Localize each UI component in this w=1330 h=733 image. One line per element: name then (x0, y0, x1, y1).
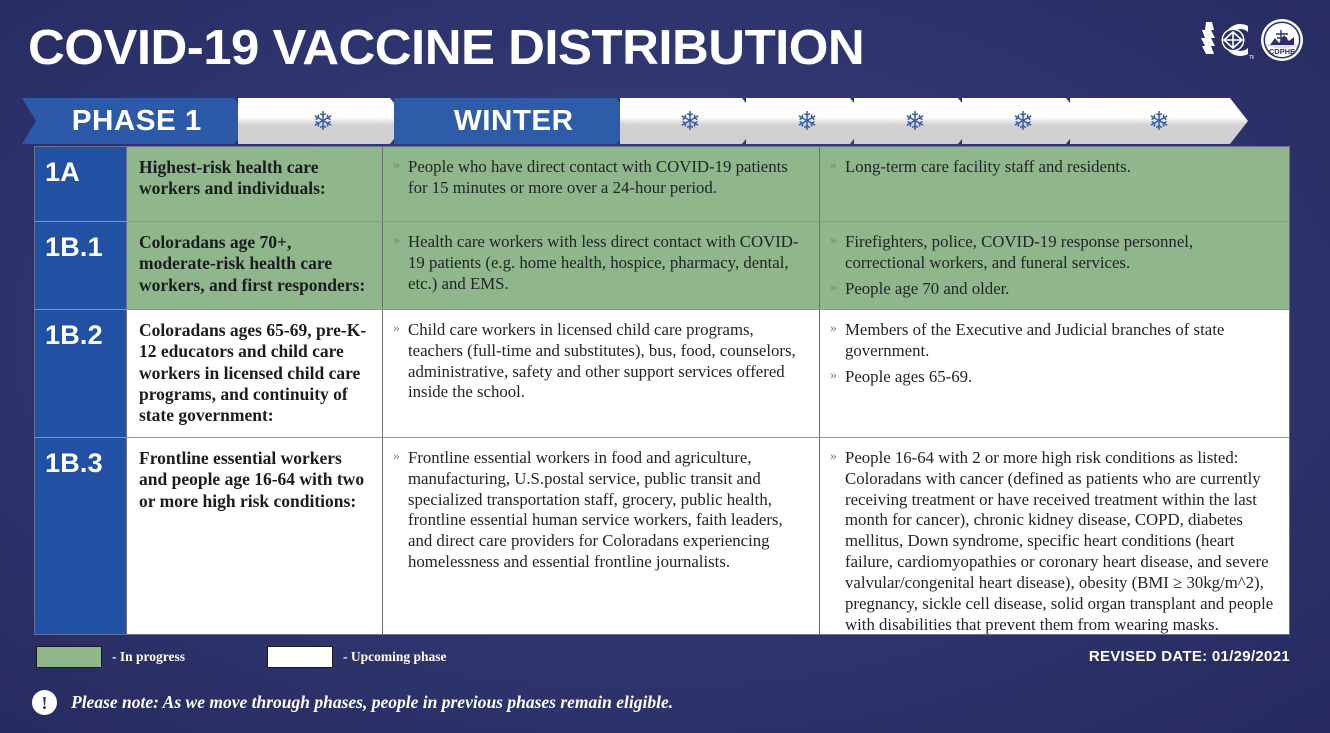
phase-middle-bullets-1b3: »Frontline essential workers in food and… (383, 438, 820, 634)
phase-right-bullets-1a: »Long-term care facility staff and resid… (820, 147, 1289, 221)
snowflake-icon: ❄ (679, 108, 701, 134)
snowflake-icon: ❄ (796, 108, 818, 134)
cdphe-seal-logo: CDPHE (1260, 18, 1304, 67)
bullet-icon: » (830, 232, 837, 249)
phase-right-bullets-1b3: »People 16-64 with 2 or more high risk c… (820, 438, 1289, 634)
bullet-icon: » (830, 279, 837, 296)
bullet-icon: » (393, 448, 400, 465)
banner-label-winter: WINTER (454, 105, 574, 138)
bullet-icon: » (830, 448, 837, 465)
legend-label-in-progress: - In progress (112, 649, 185, 665)
banner-segment-phase-1[interactable]: PHASE 1 (22, 98, 252, 144)
phase-code-1b2: 1B.2 (35, 310, 127, 437)
legend-label-upcoming: - Upcoming phase (343, 649, 447, 665)
list-item: »Firefighters, police, COVID-19 response… (830, 232, 1275, 274)
list-item: »Frontline essential workers in food and… (393, 448, 807, 573)
banner-segment-snow-6: ❄ (1070, 98, 1248, 144)
table-row: 1B.1 Coloradans age 70+, moderate-risk h… (35, 222, 1289, 310)
banner-segment-snow-1: ❄ (238, 98, 408, 144)
list-item: »People ages 65-69. (830, 367, 1275, 388)
phase-code-1b1: 1B.1 (35, 222, 127, 309)
banner-segment-snow-4: ❄ (854, 98, 976, 144)
snowflake-icon: ❄ (1148, 108, 1170, 134)
page-title: COVID-19 VACCINE DISTRIBUTION (28, 24, 864, 73)
legend-swatch-upcoming (267, 646, 333, 668)
logo-group: TM CDPHE (1196, 18, 1304, 67)
phase-right-bullets-1b1: »Firefighters, police, COVID-19 response… (820, 222, 1289, 309)
phase-table: 1A Highest-risk health care workers and … (34, 146, 1290, 635)
exclamation-icon: ! (32, 690, 57, 715)
phase-middle-bullets-1b2: »Child care workers in licensed child ca… (383, 310, 820, 437)
banner-segment-snow-2: ❄ (620, 98, 760, 144)
banner-label-phase-1: PHASE 1 (72, 105, 202, 138)
phase-middle-bullets-1a: »People who have direct contact with COV… (383, 147, 820, 221)
phase-description-1a: Highest-risk health care workers and ind… (127, 147, 383, 221)
table-row: 1B.2 Coloradans ages 65-69, pre-K-12 edu… (35, 310, 1289, 438)
phase-timeline-banner: PHASE 1 ❄ WINTER ❄ ❄ ❄ ❄ ❄ (22, 98, 1308, 144)
svg-text:TM: TM (1249, 55, 1254, 61)
phase-middle-bullets-1b1: »Health care workers with less direct co… (383, 222, 820, 309)
list-item: »People 16-64 with 2 or more high risk c… (830, 448, 1275, 635)
bullet-icon: » (393, 320, 400, 337)
list-item: »Health care workers with less direct co… (393, 232, 807, 294)
list-item: »Child care workers in licensed child ca… (393, 320, 807, 403)
bullet-icon: » (830, 367, 837, 384)
legend-swatch-in-progress (36, 646, 102, 668)
bullet-icon: » (393, 232, 400, 249)
phase-right-bullets-1b2: »Members of the Executive and Judicial b… (820, 310, 1289, 437)
note-bar: ! Please note: As we move through phases… (32, 690, 673, 715)
header-bar: COVID-19 VACCINE DISTRIBUTION (0, 8, 1330, 88)
legend: - In progress - Upcoming phase (36, 646, 447, 668)
bullet-icon: » (830, 157, 837, 174)
revised-date: REVISED DATE: 01/29/2021 (1089, 648, 1290, 665)
phase-description-1b1: Coloradans age 70+, moderate-risk health… (127, 222, 383, 309)
bullet-icon: » (393, 157, 400, 174)
phase-description-1b2: Coloradans ages 65-69, pre-K-12 educator… (127, 310, 383, 437)
phase-description-1b3: Frontline essential workers and people a… (127, 438, 383, 634)
phase-code-1b3: 1B.3 (35, 438, 127, 634)
snowflake-icon: ❄ (904, 108, 926, 134)
banner-segment-snow-3: ❄ (746, 98, 868, 144)
cdphe-logo-text: CDPHE (1269, 47, 1295, 56)
table-row: 1B.3 Frontline essential workers and peo… (35, 438, 1289, 634)
phase-code-1a: 1A (35, 147, 127, 221)
colorado-c-logo: TM (1196, 18, 1254, 67)
banner-segment-winter[interactable]: WINTER (394, 98, 634, 144)
snowflake-icon: ❄ (1012, 108, 1034, 134)
note-text: Please note: As we move through phases, … (71, 692, 673, 713)
banner-segment-snow-5: ❄ (962, 98, 1084, 144)
table-row: 1A Highest-risk health care workers and … (35, 147, 1289, 222)
snowflake-icon: ❄ (312, 108, 334, 134)
list-item: »People age 70 and older. (830, 279, 1275, 300)
list-item: »Members of the Executive and Judicial b… (830, 320, 1275, 362)
list-item: »People who have direct contact with COV… (393, 157, 807, 199)
list-item: »Long-term care facility staff and resid… (830, 157, 1275, 178)
bullet-icon: » (830, 320, 837, 337)
